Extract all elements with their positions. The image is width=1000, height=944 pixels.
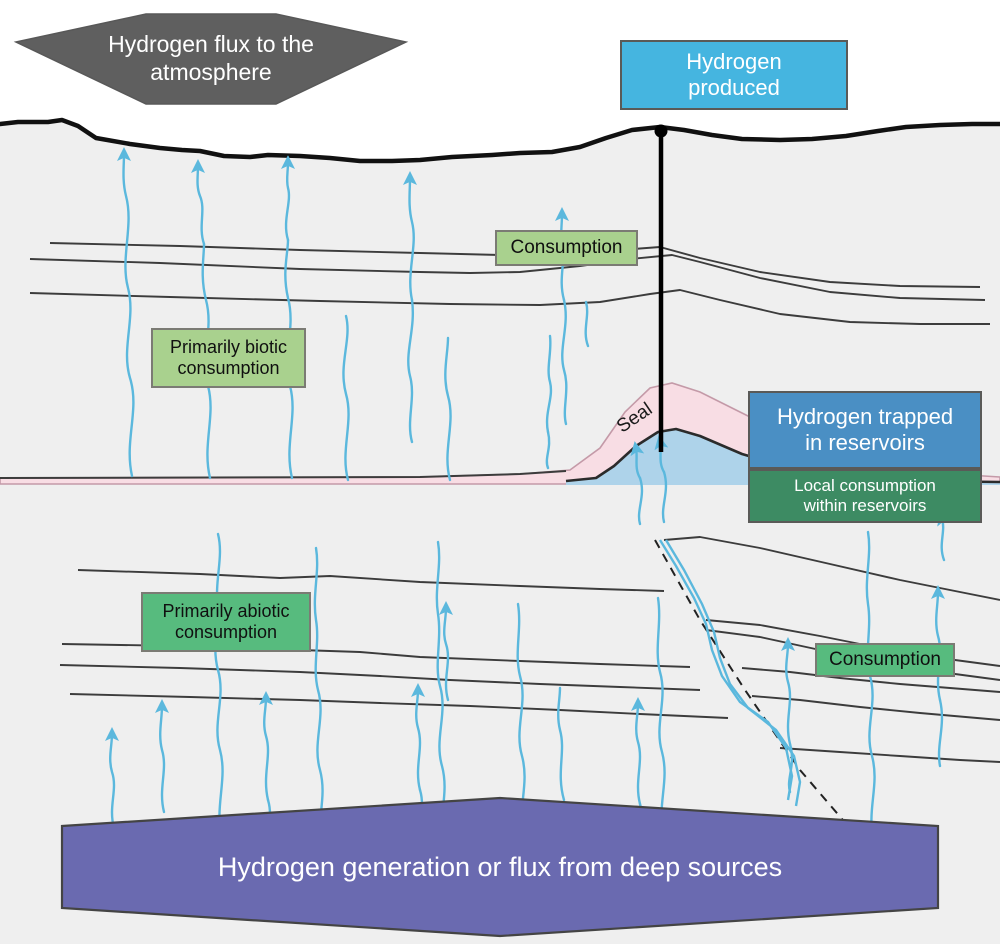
hydrogen-system-diagram: Hydrogen flux to the atmosphere Hydrogen…: [0, 0, 1000, 944]
wellhead-marker: [655, 125, 668, 138]
deep-sources-banner-label: Hydrogen generation or flux from deep so…: [62, 826, 938, 908]
deep-consumption-label[interactable]: Consumption: [815, 643, 955, 677]
primarily-abiotic-consumption-label[interactable]: Primarily abiotic consumption: [141, 592, 311, 652]
atmosphere-flux-banner-label: Hydrogen flux to the atmosphere: [16, 14, 406, 104]
local-consumption-callout[interactable]: Local consumption within reservoirs: [748, 469, 982, 523]
hydrogen-produced-callout[interactable]: Hydrogen produced: [620, 40, 848, 110]
shallow-consumption-label[interactable]: Consumption: [495, 230, 638, 266]
primarily-biotic-consumption-label[interactable]: Primarily biotic consumption: [151, 328, 306, 388]
hydrogen-trapped-callout[interactable]: Hydrogen trapped in reservoirs: [748, 391, 982, 469]
